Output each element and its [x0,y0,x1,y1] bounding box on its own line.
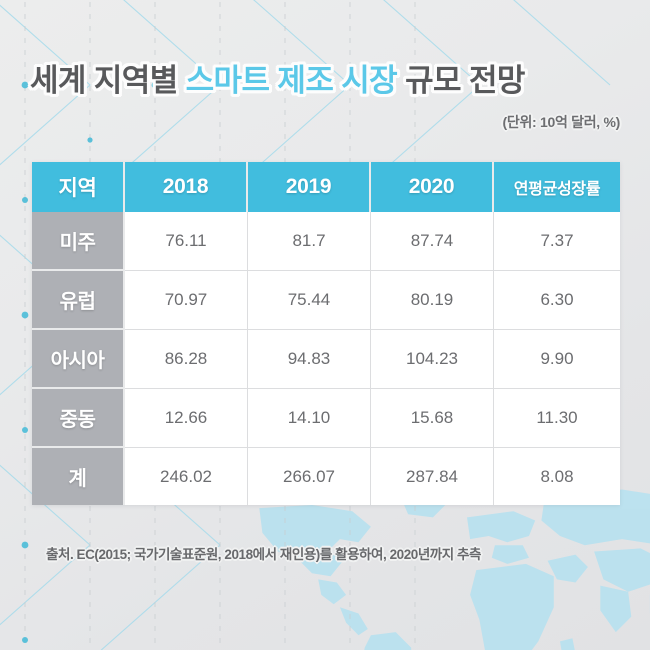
row-label-middle-east: 중동 [32,389,125,448]
cell-europe-2019: 75.44 [248,271,371,330]
table-row: 아시아 86.28 94.83 104.23 9.90 [32,330,620,389]
title-block: 세계 지역별 스마트 제조 시장 규모 전망 (단위: 10억 달러, %) [0,62,650,132]
source-note: 출처. EC(2015; 국가기술표준원, 2018에서 재인용)를 활용하여,… [46,543,481,563]
cell-middle-east-2020: 15.68 [371,389,494,448]
infographic-slide: 세계 지역별 스마트 제조 시장 규모 전망 (단위: 10억 달러, %) 지… [0,0,650,650]
cell-europe-2020: 80.19 [371,271,494,330]
page-title-accent: 스마트 제조 시장 [186,63,397,98]
market-size-table: 지역 2018 2019 2020 연평균성장률 미주 76.11 81.7 8… [32,162,620,505]
market-size-table-wrapper: 지역 2018 2019 2020 연평균성장률 미주 76.11 81.7 8… [32,162,620,505]
row-label-total: 계 [32,448,125,505]
table-header: 지역 2018 2019 2020 연평균성장률 [32,162,620,212]
row-label-europe: 유럽 [32,271,125,330]
table-body: 미주 76.11 81.7 87.74 7.37 유럽 70.97 75.44 … [32,212,620,505]
unit-note: (단위: 10억 달러, %) [0,112,650,132]
cell-total-2019: 266.07 [248,448,371,505]
page-title-part1: 세계 지역별 [30,63,186,98]
cell-americas-cagr: 7.37 [494,212,620,271]
cell-asia-2019: 94.83 [248,330,371,389]
page-title: 세계 지역별 스마트 제조 시장 규모 전망 [0,62,650,100]
cell-americas-2020: 87.74 [371,212,494,271]
cell-middle-east-2018: 12.66 [125,389,248,448]
column-header-region: 지역 [32,162,125,212]
table-header-row: 지역 2018 2019 2020 연평균성장률 [32,162,620,212]
row-label-asia: 아시아 [32,330,125,389]
table-row: 중동 12.66 14.10 15.68 11.30 [32,389,620,448]
cell-middle-east-cagr: 11.30 [494,389,620,448]
cell-americas-2018: 76.11 [125,212,248,271]
cell-asia-2020: 104.23 [371,330,494,389]
column-header-2018: 2018 [125,162,248,212]
cell-europe-cagr: 6.30 [494,271,620,330]
column-header-cagr: 연평균성장률 [494,162,620,212]
cell-total-2018: 246.02 [125,448,248,505]
table-row: 계 246.02 266.07 287.84 8.08 [32,448,620,505]
table-row: 유럽 70.97 75.44 80.19 6.30 [32,271,620,330]
column-header-2020: 2020 [371,162,494,212]
cell-asia-2018: 86.28 [125,330,248,389]
cell-asia-cagr: 9.90 [494,330,620,389]
cell-middle-east-2019: 14.10 [248,389,371,448]
column-header-2019: 2019 [248,162,371,212]
table-row: 미주 76.11 81.7 87.74 7.37 [32,212,620,271]
page-title-part2: 규모 전망 [397,63,525,98]
cell-total-cagr: 8.08 [494,448,620,505]
cell-americas-2019: 81.7 [248,212,371,271]
cell-total-2020: 287.84 [371,448,494,505]
cell-europe-2018: 70.97 [125,271,248,330]
row-label-americas: 미주 [32,212,125,271]
